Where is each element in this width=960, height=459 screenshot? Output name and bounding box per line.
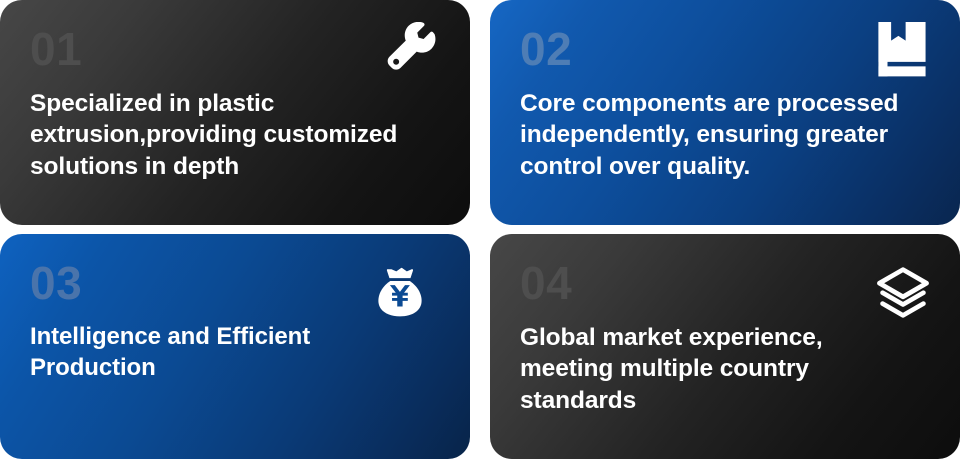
- feature-card-03[interactable]: 03 Intelligence and Efficient Production: [0, 234, 470, 459]
- card-index-01: 01: [30, 26, 440, 72]
- card-text-03: Intelligence and Efficient Production: [30, 322, 440, 383]
- feature-card-01[interactable]: 01 Specialized in plastic extrusion,prov…: [0, 0, 470, 225]
- card-index-03: 03: [30, 260, 440, 306]
- card-index-04: 04: [520, 260, 930, 306]
- card-text-01: Specialized in plastic extrusion,providi…: [30, 88, 440, 182]
- feature-card-02[interactable]: 02 Core components are processed indepen…: [490, 0, 960, 225]
- feature-card-grid: 01 Specialized in plastic extrusion,prov…: [0, 0, 960, 459]
- card-index-02: 02: [520, 26, 930, 72]
- card-text-02: Core components are processed independen…: [520, 88, 930, 182]
- card-text-04: Global market experience, meeting multip…: [520, 322, 930, 416]
- feature-card-04[interactable]: 04 Global market experience, meeting mul…: [490, 234, 960, 459]
